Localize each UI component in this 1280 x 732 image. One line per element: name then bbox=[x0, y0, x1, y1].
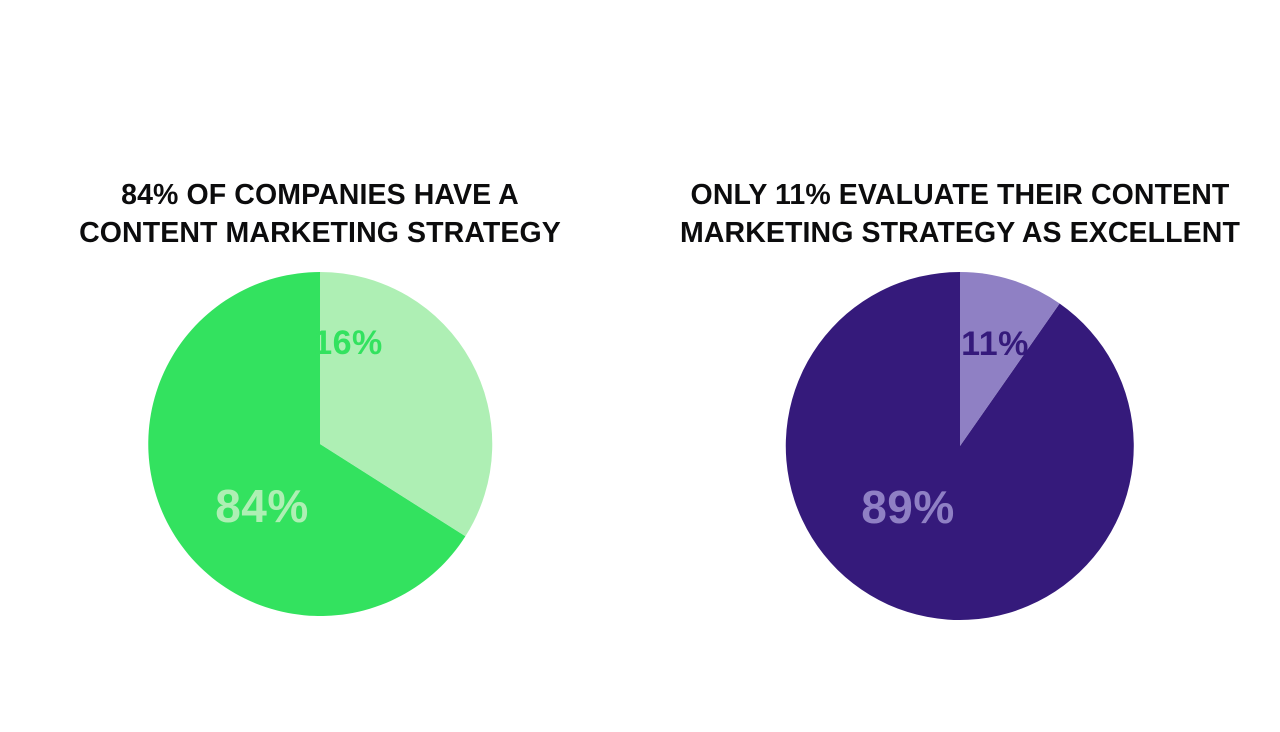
page-title-right: ONLY 11% EVALUATE THEIR CONTENT MARKETIN… bbox=[640, 176, 1280, 252]
pie-slice-left-minor-label: 16% bbox=[313, 324, 383, 362]
pie-slice-right-major-label: 89% bbox=[861, 481, 955, 533]
chart-panel-companies-with-strategy: 84% OF COMPANIES HAVE A CONTENT MARKETIN… bbox=[0, 0, 640, 732]
page-title-left: 84% OF COMPANIES HAVE A CONTENT MARKETIN… bbox=[0, 176, 640, 252]
infographic-canvas: 84% OF COMPANIES HAVE A CONTENT MARKETIN… bbox=[0, 0, 1280, 732]
pie-chart-right-svg: 11% 89% bbox=[780, 271, 1140, 621]
pie-chart-left-svg: 16% 84% bbox=[140, 271, 500, 621]
chart-panel-strategy-rated-excellent: ONLY 11% EVALUATE THEIR CONTENT MARKETIN… bbox=[640, 0, 1280, 732]
pie-slice-left-major-label: 84% bbox=[215, 480, 309, 532]
pie-chart-left: 16% 84% bbox=[0, 271, 640, 621]
pie-slice-right-major[interactable] bbox=[786, 272, 1134, 620]
pie-slice-right-minor-label: 11% bbox=[961, 325, 1029, 363]
pie-chart-right: 11% 89% bbox=[640, 271, 1280, 621]
